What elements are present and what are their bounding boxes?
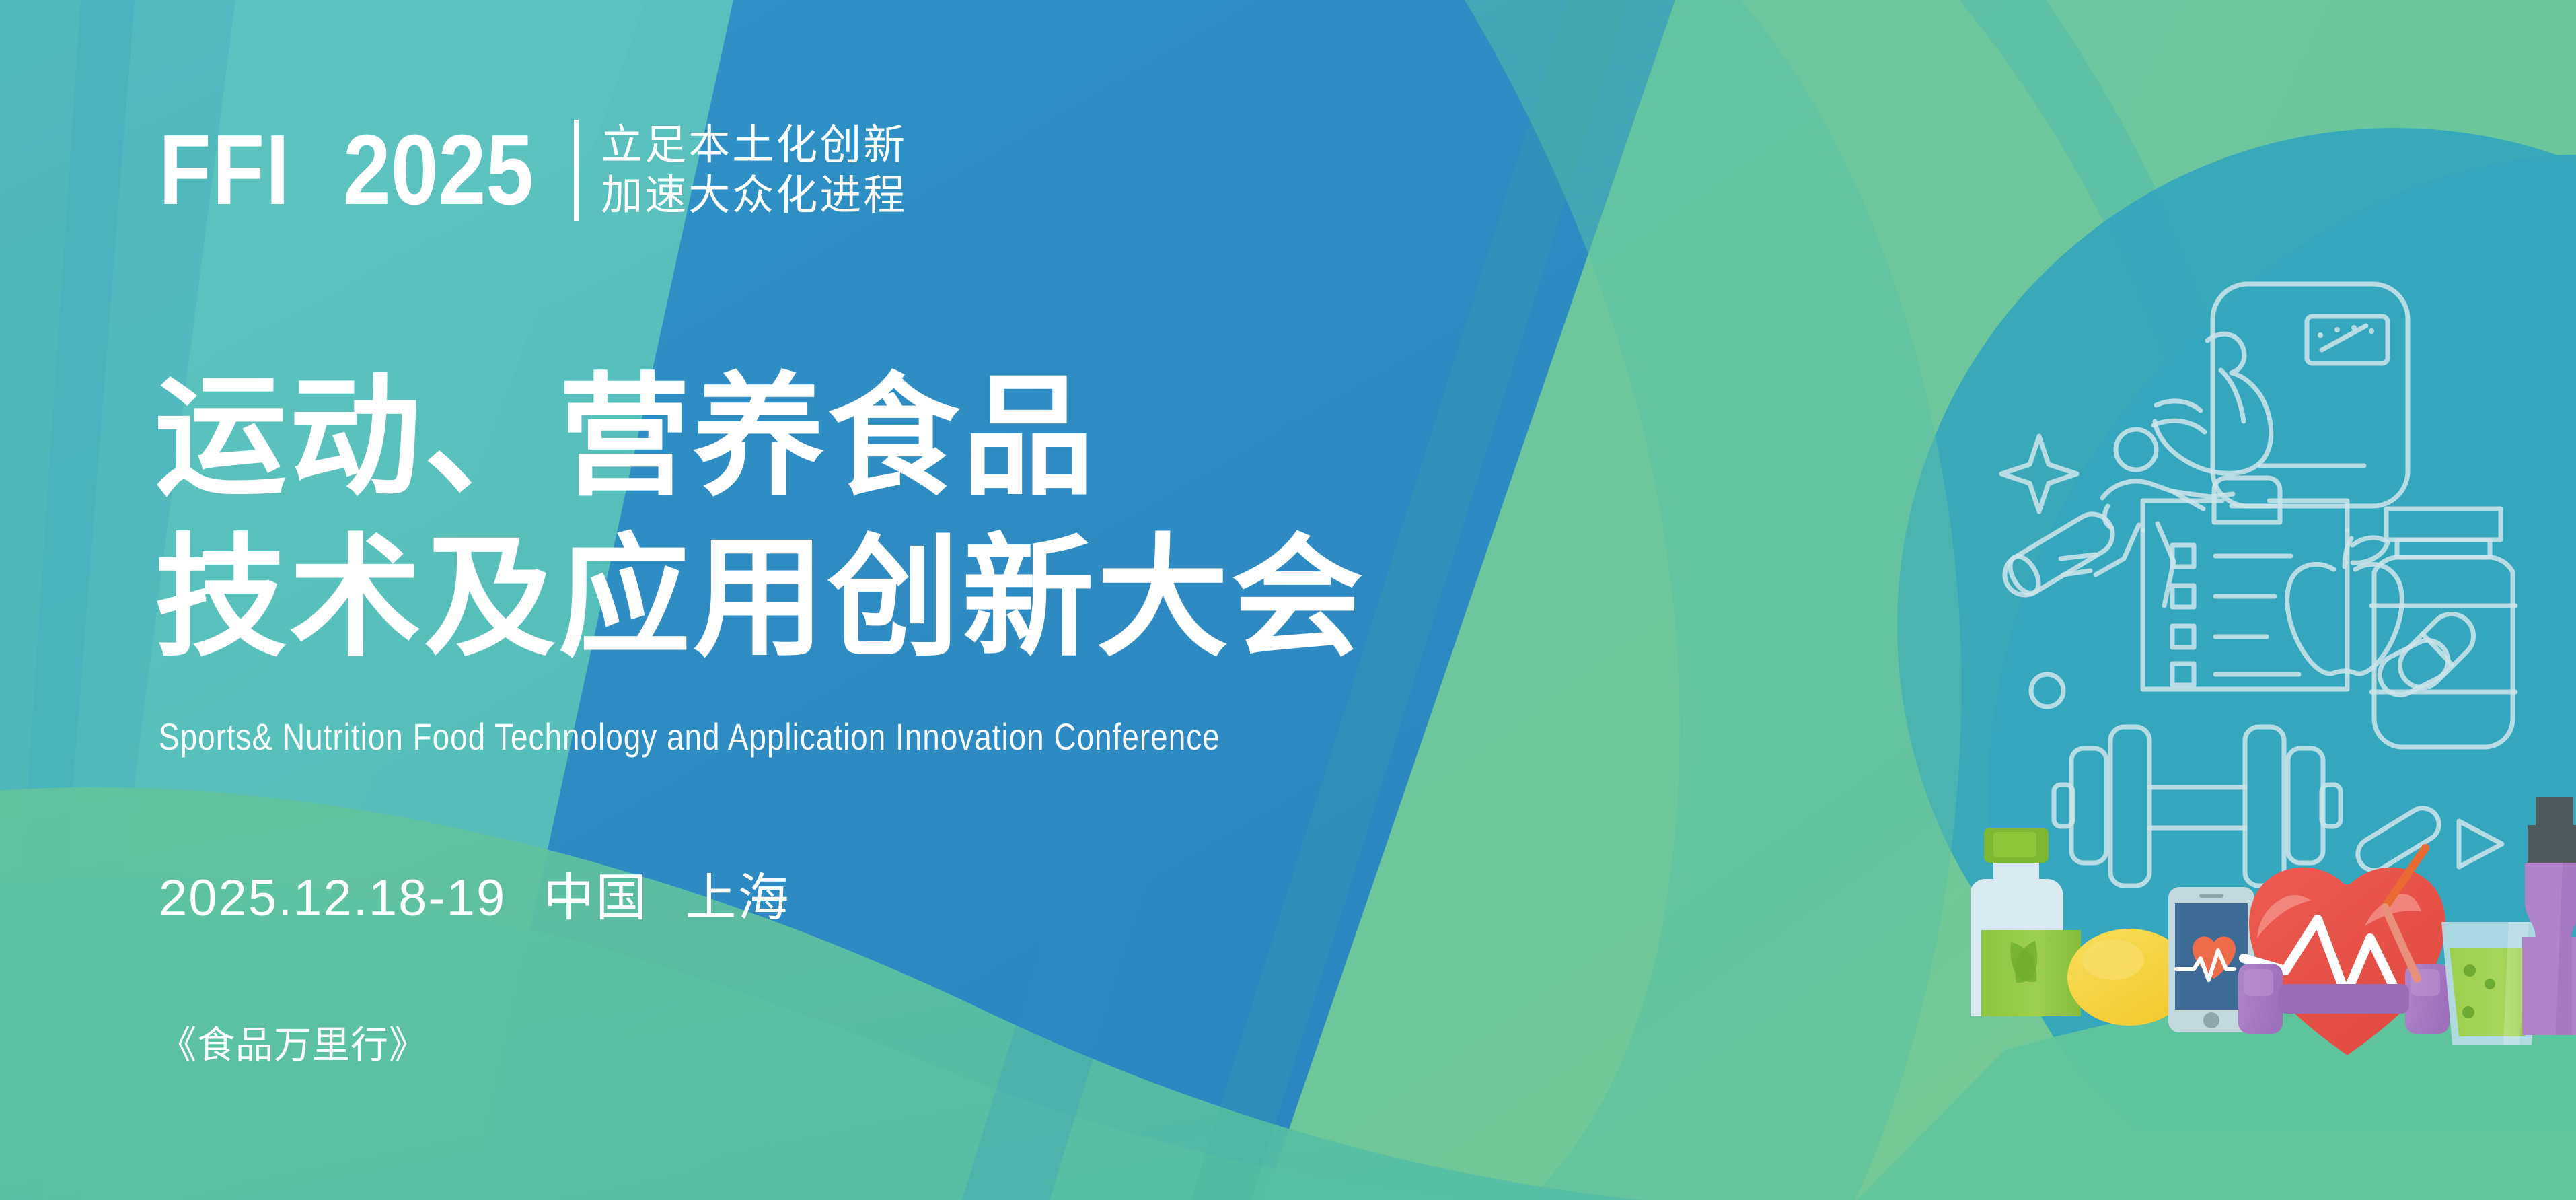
event-date-location: 2025.12.18-19 中国 上海 [159,856,790,930]
event-country: 中国 [543,870,648,927]
subtitle-english: Sports& Nutrition Food Technology and Ap… [159,715,1220,758]
ffi-wordmark: FFI [159,123,291,217]
tagline-line-2: 加速大众化进程 [601,171,907,220]
logo-lockup: FFI 2025 立足本土化创新 加速大众化进程 [159,120,907,221]
logo-tagline: 立足本土化创新 加速大众化进程 [601,120,907,220]
event-date: 2025.12.18-19 [159,870,506,927]
year-2025: 2025 [343,123,533,217]
event-city: 上海 [685,870,790,927]
banner-content: FFI 2025 立足本土化创新 加速大众化进程 运动、营养食品 技术及应用创新… [0,0,2576,1200]
organizer-note: 《食品万里行》 [159,1015,427,1069]
title-line-2: 技术及应用创新大会 [155,518,1366,678]
conference-banner: .la { fill:none; stroke:#cfe5ea; stroke-… [0,0,2576,1200]
page-title: 运动、营养食品 技术及应用创新大会 [155,357,1366,678]
tagline-line-1: 立足本土化创新 [601,120,907,170]
title-line-1: 运动、营养食品 [155,357,1366,518]
logo-divider [574,120,579,221]
